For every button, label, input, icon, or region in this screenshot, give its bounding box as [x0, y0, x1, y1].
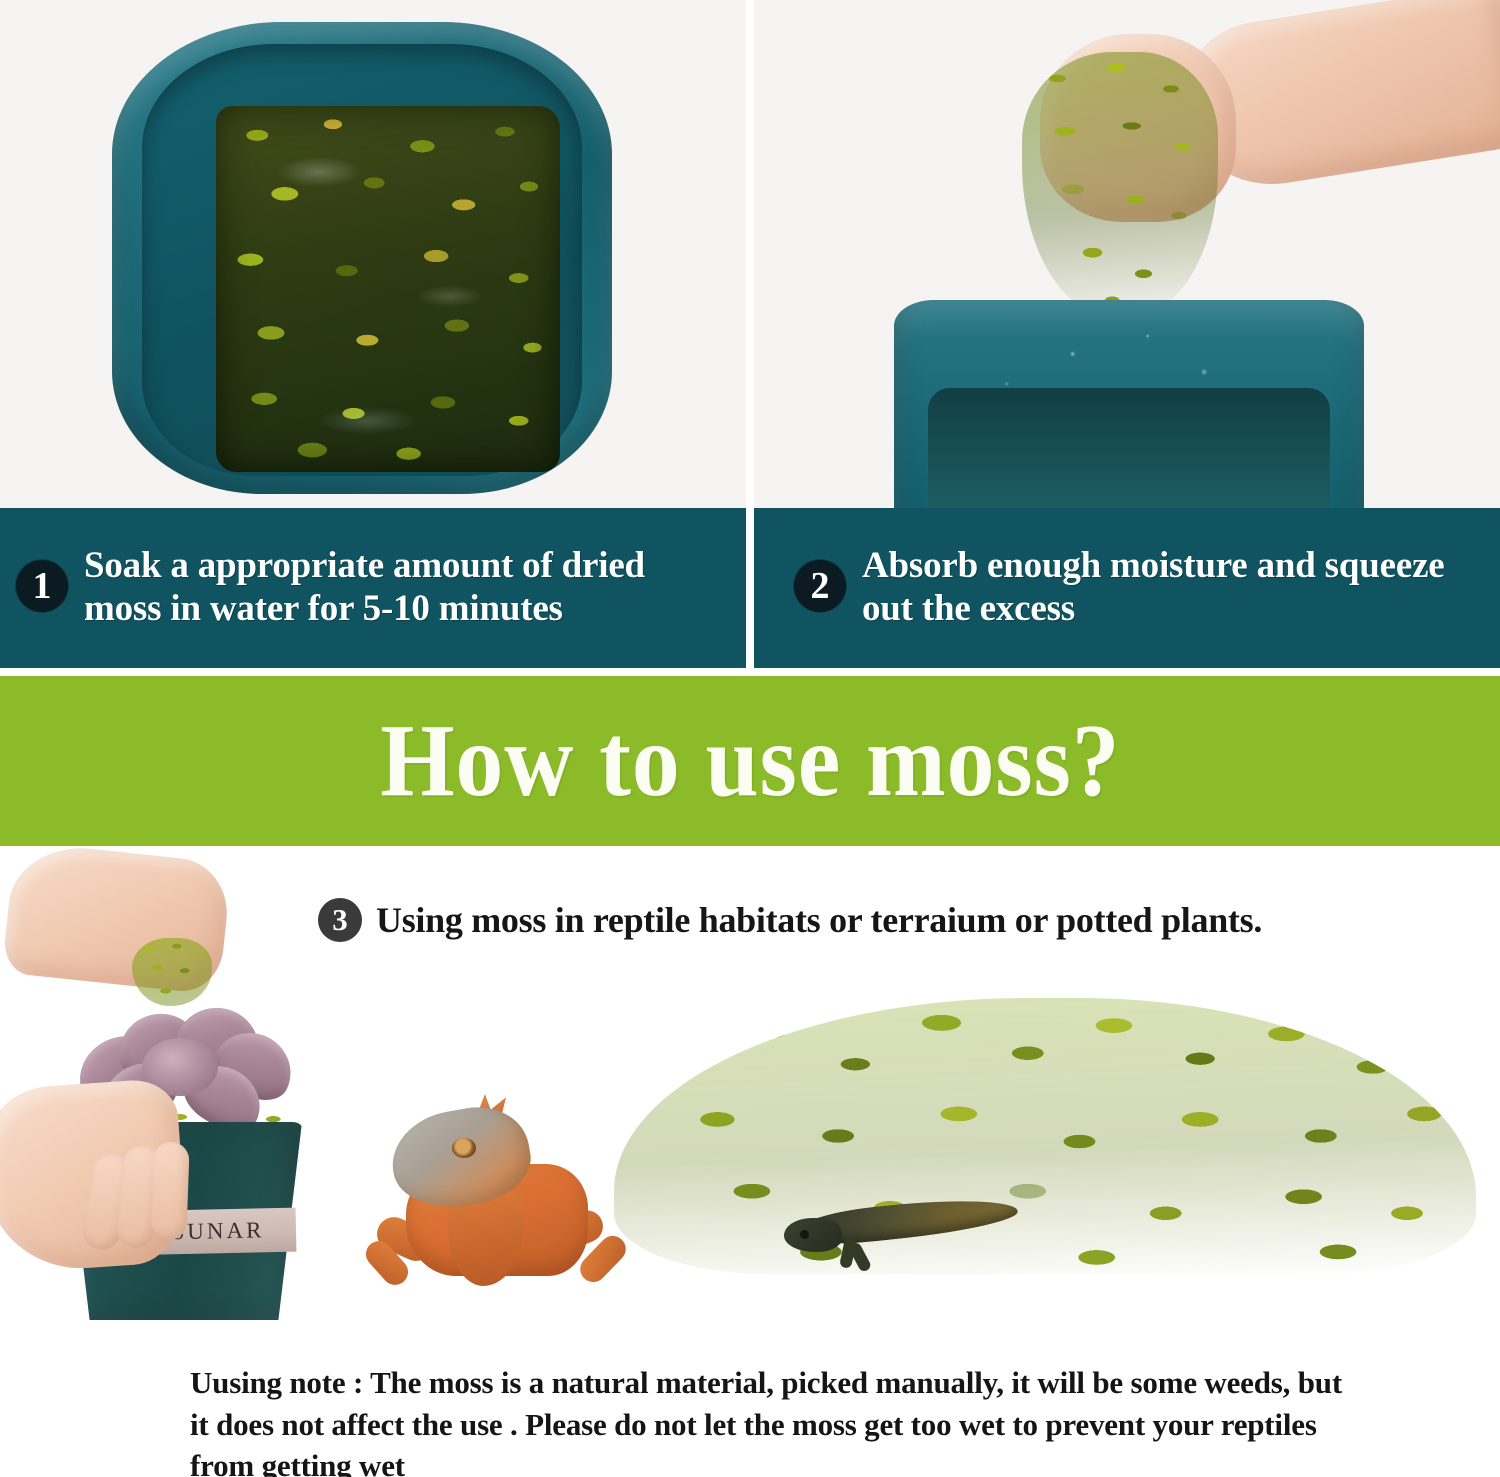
step-3-caption: 3 Using moss in reptile habitats or terr…	[318, 898, 1262, 942]
photo-gutter	[746, 0, 754, 508]
step-1-badge: 1	[16, 560, 68, 612]
pinch-of-moss	[132, 938, 212, 1006]
floating-moss	[936, 394, 1322, 508]
salamander-icon	[790, 1186, 1030, 1260]
step-2-badge: 2	[794, 560, 846, 612]
squeezed-moss	[1022, 52, 1218, 316]
page-title: How to use moss?	[380, 709, 1120, 813]
top-photo-row	[0, 0, 1500, 508]
soaked-moss	[216, 106, 560, 472]
lower-section: 3 Using moss in reptile habitats or terr…	[0, 846, 1500, 1477]
step-3-text: Using moss in reptile habitats or terrai…	[376, 899, 1262, 941]
basin-water	[928, 388, 1330, 508]
step-2-caption: 2 Absorb enough moisture and squeeze out…	[754, 508, 1500, 668]
caption-divider	[746, 508, 754, 668]
step-1-text: Soak a appropriate amount of dried moss …	[84, 545, 728, 631]
photo-step-2	[754, 0, 1500, 508]
water-sheen	[216, 106, 560, 472]
basin-handle-icon	[572, 234, 646, 362]
step-caption-row: 1 Soak a appropriate amount of dried mos…	[0, 508, 1500, 668]
photo-step-1	[0, 0, 746, 508]
iguana-eye	[452, 1138, 476, 1158]
headline-banner: How to use moss?	[0, 676, 1500, 846]
moss-pile	[614, 998, 1476, 1274]
salamander-eye	[800, 1230, 809, 1239]
teal-basin-icon	[112, 22, 612, 494]
infographic-page: 1 Soak a appropriate amount of dried mos…	[0, 0, 1500, 1477]
step-2-text: Absorb enough moisture and squeeze out t…	[862, 545, 1482, 631]
teal-basin-lower-icon	[894, 300, 1364, 508]
salamander-head	[784, 1218, 842, 1252]
basin-inner	[142, 44, 582, 476]
step-1-caption: 1 Soak a appropriate amount of dried mos…	[0, 508, 746, 668]
potted-plant-scene: D ✿ SUNAR	[0, 846, 330, 1316]
finger	[150, 1141, 189, 1240]
usage-note: Uusing note : The moss is a natural mate…	[190, 1362, 1360, 1477]
